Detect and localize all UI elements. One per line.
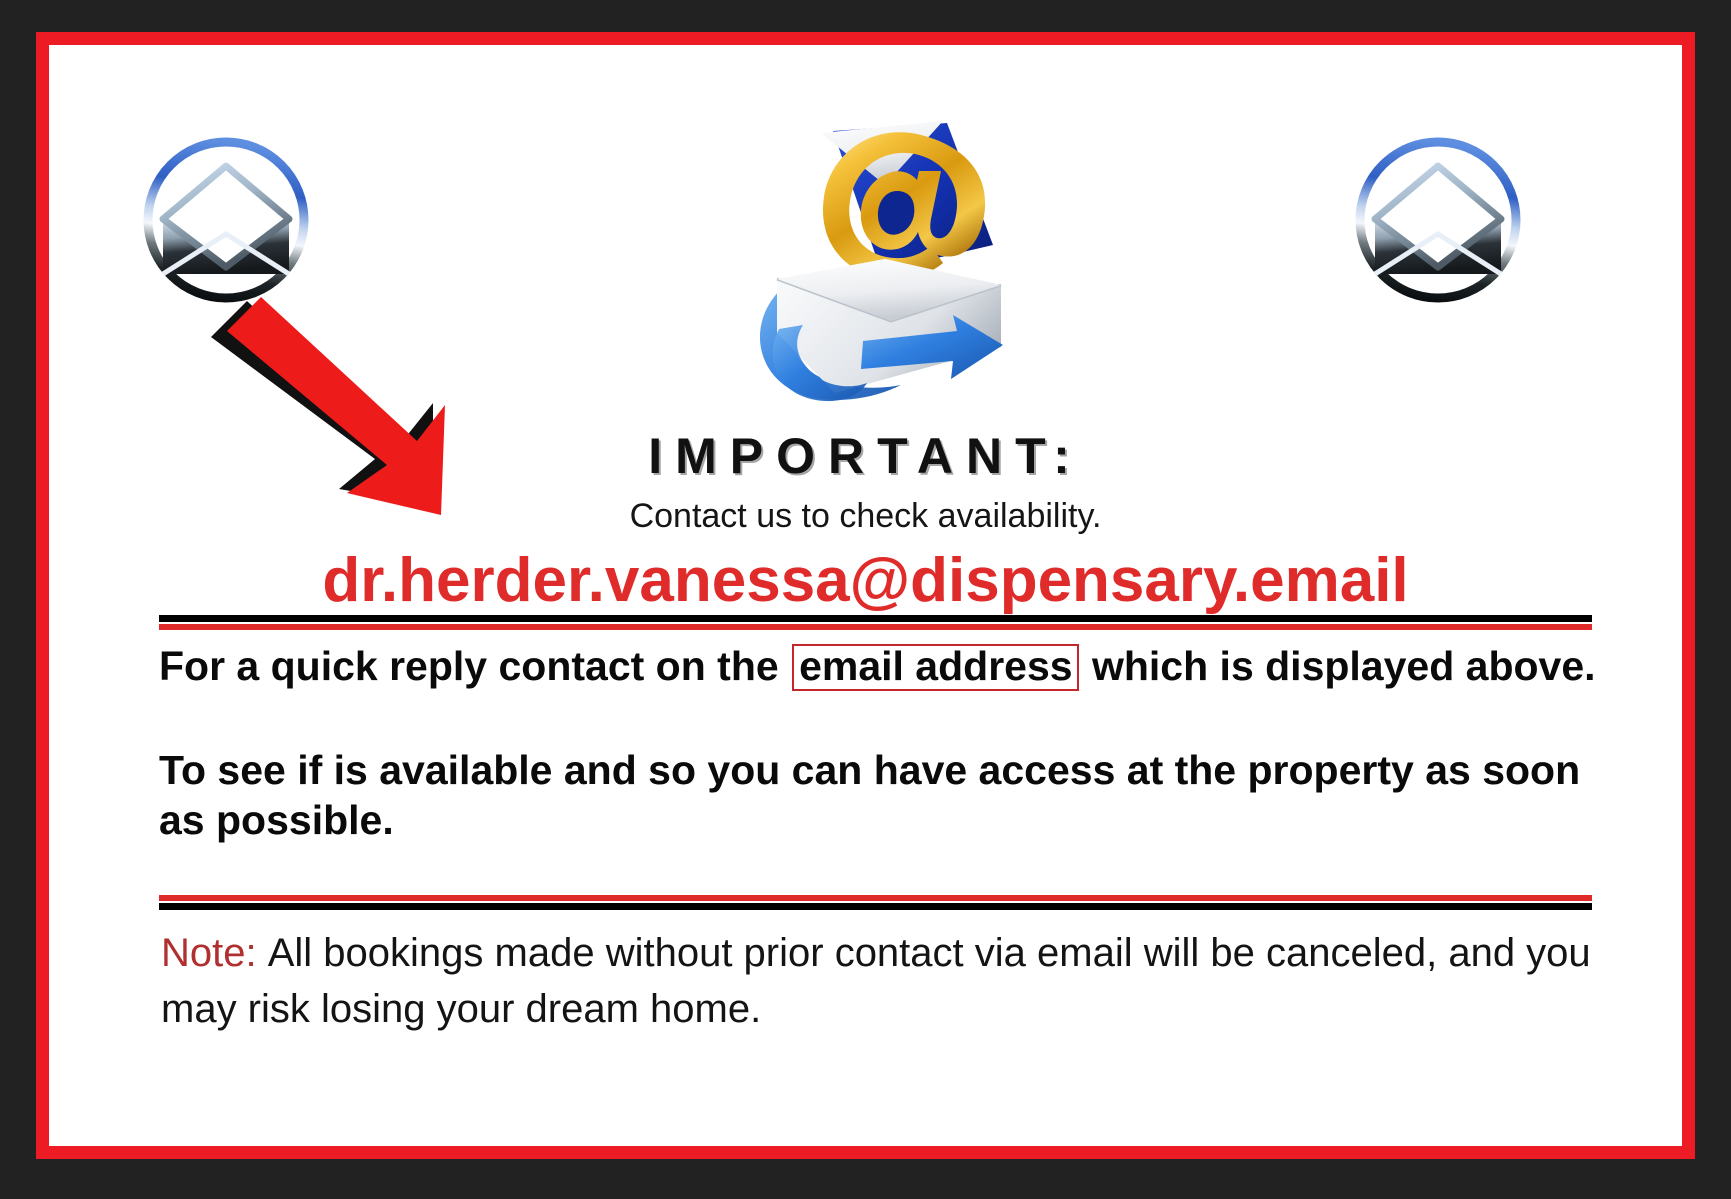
flyer-content-canvas: IMPORTANT: Contact us to check availabil… xyxy=(49,45,1682,1146)
body-paragraph-1-tail: which is displayed above. xyxy=(1092,643,1596,689)
flyer-red-frame: IMPORTANT: Contact us to check availabil… xyxy=(36,32,1695,1159)
page-title: IMPORTANT: xyxy=(49,427,1682,485)
note-label: Note: xyxy=(161,931,257,975)
boxed-email-address-phrase: email address xyxy=(792,644,1079,691)
body-paragraph-1-lead: For a quick reply contact on the xyxy=(159,643,779,689)
envelope-circle-icon xyxy=(1339,133,1537,308)
divider-black-bar xyxy=(159,903,1592,910)
body-paragraph-2: To see if is available and so you can ha… xyxy=(159,745,1599,845)
body-paragraph-1: For a quick reply contact on the email a… xyxy=(159,641,1599,691)
divider-red-bar xyxy=(159,624,1592,630)
contact-email-address[interactable]: dr.herder.vanessa@dispensary.email xyxy=(49,545,1682,616)
divider-black-bar xyxy=(159,615,1592,622)
note-block: Note: All bookings made without prior co… xyxy=(161,925,1601,1037)
divider-rule-top xyxy=(159,615,1592,630)
envelope-circle-icon xyxy=(127,133,325,308)
note-body-text: All bookings made without prior contact … xyxy=(161,931,1591,1031)
divider-rule-bottom xyxy=(159,895,1592,910)
note-paragraph: Note: All bookings made without prior co… xyxy=(161,925,1601,1037)
page-subtitle: Contact us to check availability. xyxy=(49,497,1682,536)
body-copy-block: For a quick reply contact on the email a… xyxy=(159,641,1599,845)
at-symbol-envelope-icon xyxy=(685,93,1035,423)
